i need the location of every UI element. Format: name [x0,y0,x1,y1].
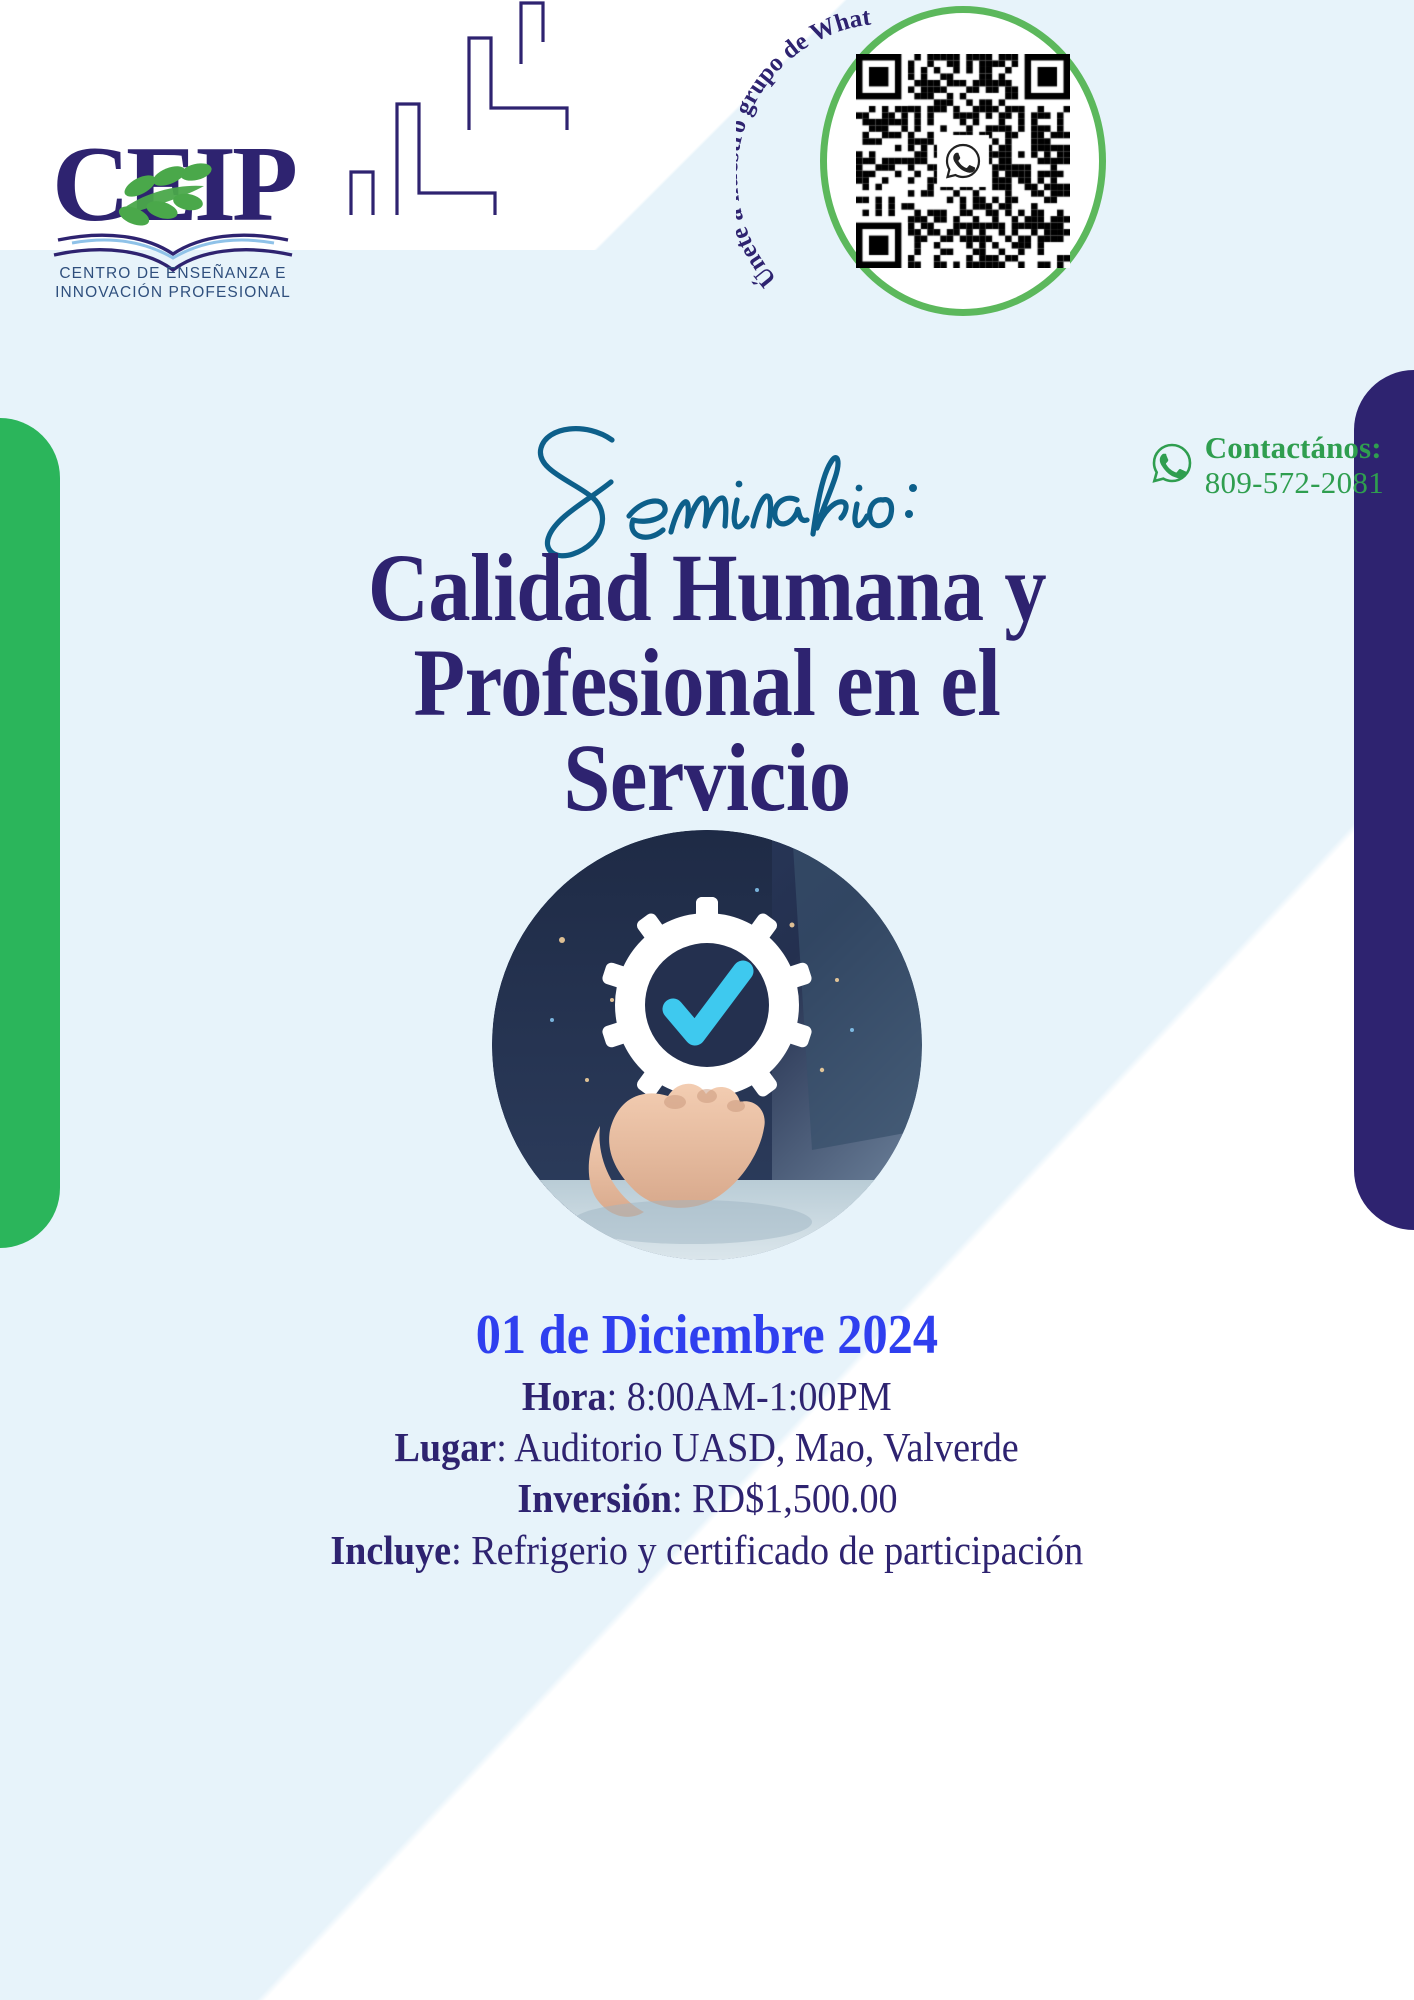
whatsapp-icon [940,138,986,184]
hero-photo [492,830,922,1260]
title-line-2: Profesional en el [245,635,1169,730]
detail-row: Incluye: Refrigerio y certificado de par… [0,1525,1414,1576]
whatsapp-icon [1150,441,1194,490]
detail-label: Lugar [395,1424,497,1470]
detail-label: Hora [522,1373,607,1419]
detail-sep: : [672,1475,692,1521]
logo-subtitle-line1: CENTRO DE ENSEÑANZA E [28,265,318,284]
qr-circle[interactable] [820,6,1106,316]
flyer-page: CEIP CENTRO DE ENSEÑANZA E I [0,0,1414,2000]
title-line-3: Servicio [245,730,1169,825]
qr-code-image[interactable] [856,54,1070,268]
chevron-decoration [335,0,605,215]
contact-phone: 809-572-2081 [1205,465,1384,500]
detail-value: Refrigerio y certificado de participació… [471,1527,1083,1573]
detail-row: Hora: 8:00AM-1:00PM [0,1371,1414,1422]
logo-subtitle: CENTRO DE ENSEÑANZA E INNOVACIÓN PROFESI… [28,265,318,303]
logo-subtitle-line2: INNOVACIÓN PROFESIONAL [28,284,318,303]
detail-value: 8:00AM-1:00PM [627,1373,892,1419]
detail-value: Auditorio UASD, Mao, Valverde [515,1424,1019,1470]
detail-row: Inversión: RD$1,500.00 [0,1473,1414,1524]
event-date-text: 01 de Diciembre 2024 [476,1306,938,1365]
page-title: Calidad Humana y Profesional en el Servi… [182,540,1232,825]
contact-label: Contactános: [1205,430,1384,465]
whatsapp-qr-badge[interactable]: Únete a nuestro grupo de Whatsapp [800,2,1100,310]
detail-value: RD$1,500.00 [692,1475,898,1521]
detail-row: Lugar: Auditorio UASD, Mao, Valverde [0,1422,1414,1473]
detail-sep: : [497,1424,515,1470]
detail-sep: : [607,1373,627,1419]
svg-text:CEIP: CEIP [52,125,295,244]
detail-sep: : [451,1527,471,1573]
contact-text: Contactános: 809-572-2081 [1205,430,1384,501]
title-line-1: Calidad Humana y [245,540,1169,635]
detail-label: Incluye [331,1527,452,1573]
contact-block[interactable]: Contactános: 809-572-2081 [1150,430,1384,501]
event-date: 01 de Diciembre 2024 [0,1306,1414,1365]
detail-label: Inversión [517,1475,672,1521]
event-details: 01 de Diciembre 2024 Hora: 8:00AM-1:00PM… [0,1306,1414,1576]
accent-bar-green [0,418,60,1248]
